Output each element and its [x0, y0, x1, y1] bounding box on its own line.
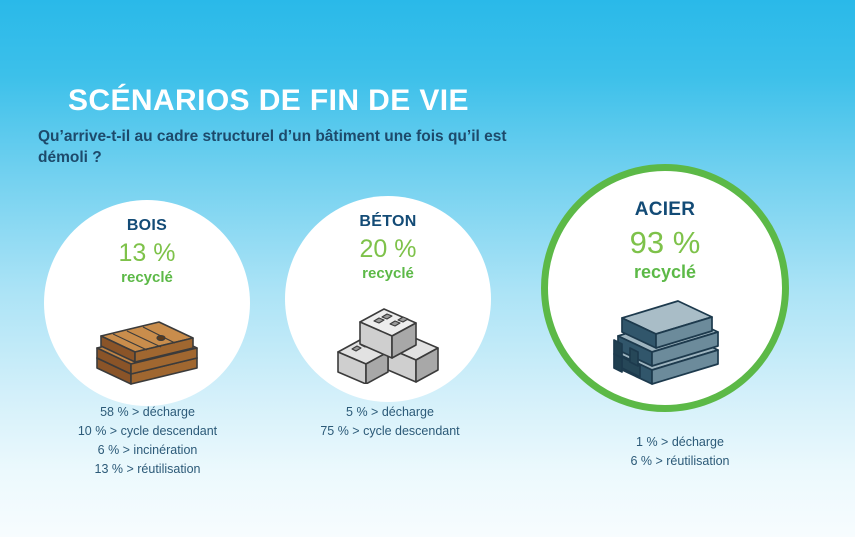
material-name-acier: ACIER: [635, 199, 696, 221]
breakdown-item: 13 % > réutilisation: [60, 460, 235, 479]
breakdown-item: 10 % > cycle descendant: [60, 422, 235, 441]
material-percent-acier: 93 %: [630, 225, 701, 261]
infographic-canvas: SCÉNARIOS DE FIN DE VIE Qu’arrive-t-il a…: [0, 0, 855, 537]
breakdown-item: 6 % > réutilisation: [590, 452, 770, 471]
material-percent-bois: 13 %: [119, 239, 176, 268]
breakdown-list-beton: 5 % > décharge 75 % > cycle descendant: [300, 403, 480, 441]
material-circle-acier[interactable]: ACIER 93 % recyclé: [541, 164, 789, 412]
page-title: SCÉNARIOS DE FIN DE VIE: [68, 84, 469, 118]
material-name-beton: BÉTON: [359, 213, 416, 231]
breakdown-list-acier: 1 % > décharge 6 % > réutilisation: [590, 433, 770, 471]
steel-beams-icon: [548, 291, 782, 391]
material-circle-acier-content: ACIER 93 % recyclé: [548, 199, 782, 283]
material-circle-beton[interactable]: BÉTON 20 % recyclé: [285, 196, 491, 402]
page-subtitle: Qu’arrive-t-il au cadre structurel d’un …: [38, 127, 508, 169]
breakdown-item: 1 % > décharge: [590, 433, 770, 452]
material-recycled-label-bois: recyclé: [121, 269, 173, 286]
material-circle-bois[interactable]: BOIS 13 % recyclé: [44, 200, 250, 406]
material-recycled-label-beton: recyclé: [362, 265, 414, 282]
material-recycled-label-acier: recyclé: [634, 262, 696, 283]
material-percent-beton: 20 %: [360, 235, 417, 264]
breakdown-item: 75 % > cycle descendant: [300, 422, 480, 441]
material-circle-bois-content: BOIS 13 % recyclé: [44, 217, 250, 286]
breakdown-item: 6 % > incinération: [60, 441, 235, 460]
material-name-bois: BOIS: [127, 217, 167, 235]
wood-planks-icon: [44, 308, 250, 388]
breakdown-item: 58 % > décharge: [60, 403, 235, 422]
breakdown-item: 5 % > décharge: [300, 403, 480, 422]
concrete-blocks-icon: [285, 304, 491, 384]
material-circle-beton-content: BÉTON 20 % recyclé: [285, 213, 491, 282]
breakdown-list-bois: 58 % > décharge 10 % > cycle descendant …: [60, 403, 235, 479]
